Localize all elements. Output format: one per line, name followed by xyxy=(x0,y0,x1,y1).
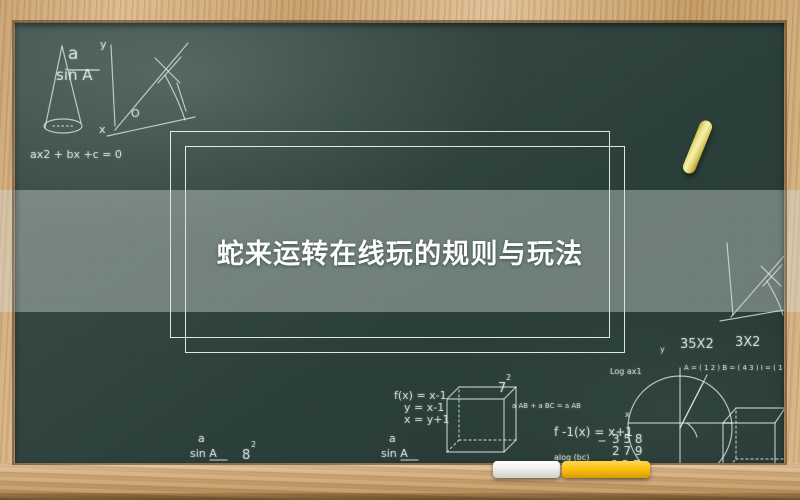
chalk-text-top-left: a xyxy=(68,44,78,64)
page-title: 蛇来运转在线玩的规则与玩法 xyxy=(0,190,800,312)
chalk-text-bottom-center: sin A xyxy=(190,447,217,460)
chalk-text-top-left: x xyxy=(99,123,106,136)
chalk-text-bottom-center: sin A xyxy=(381,447,408,460)
chalk-piece-yellow-on-ledge[interactable] xyxy=(562,461,650,478)
chalk-text-right-side: y xyxy=(660,345,665,354)
chalk-text-bottom-center: a xyxy=(198,432,205,445)
chalk-piece-white-on-ledge[interactable] xyxy=(493,461,560,478)
chalk-text-top-left: y xyxy=(100,38,107,51)
chalk-ledge xyxy=(0,463,800,500)
chalk-text-right-side: A = ( 1 2 ) B = ( 4 3 ) I = ( 1 0 ) xyxy=(684,364,784,372)
chalk-text-right-side: x xyxy=(625,410,630,419)
chalk-text-top-left: O xyxy=(131,107,140,120)
chalkboard-banner: asin AyxOax2 + bx +c = 0f(x) = x-1y = x-… xyxy=(0,0,800,500)
chalk-text-right-side: Log ax1 xyxy=(610,367,642,376)
chalk-text-right-side: 35X2 xyxy=(680,337,714,352)
chalk-text-bottom-center: 2 xyxy=(506,373,511,382)
chalk-text-right-side: 2 7 9 xyxy=(612,444,643,458)
chalk-text-bottom-center: 7 xyxy=(498,381,506,396)
chalk-text-bottom-center: x = y+1 xyxy=(404,413,449,426)
chalk-text-top-left: ax2 + bx +c = 0 xyxy=(30,148,122,161)
chalk-text-bottom-center: 2 xyxy=(251,440,256,449)
chalk-text-top-left: sin A xyxy=(56,66,93,84)
chalk-text-bottom-center: a AB + a BC = a AB xyxy=(512,402,581,410)
chalk-text-right-side: 3X2 xyxy=(735,335,760,350)
chalk-text-bottom-center: 8 xyxy=(242,448,250,463)
chalk-text-bottom-center: a xyxy=(389,432,396,445)
